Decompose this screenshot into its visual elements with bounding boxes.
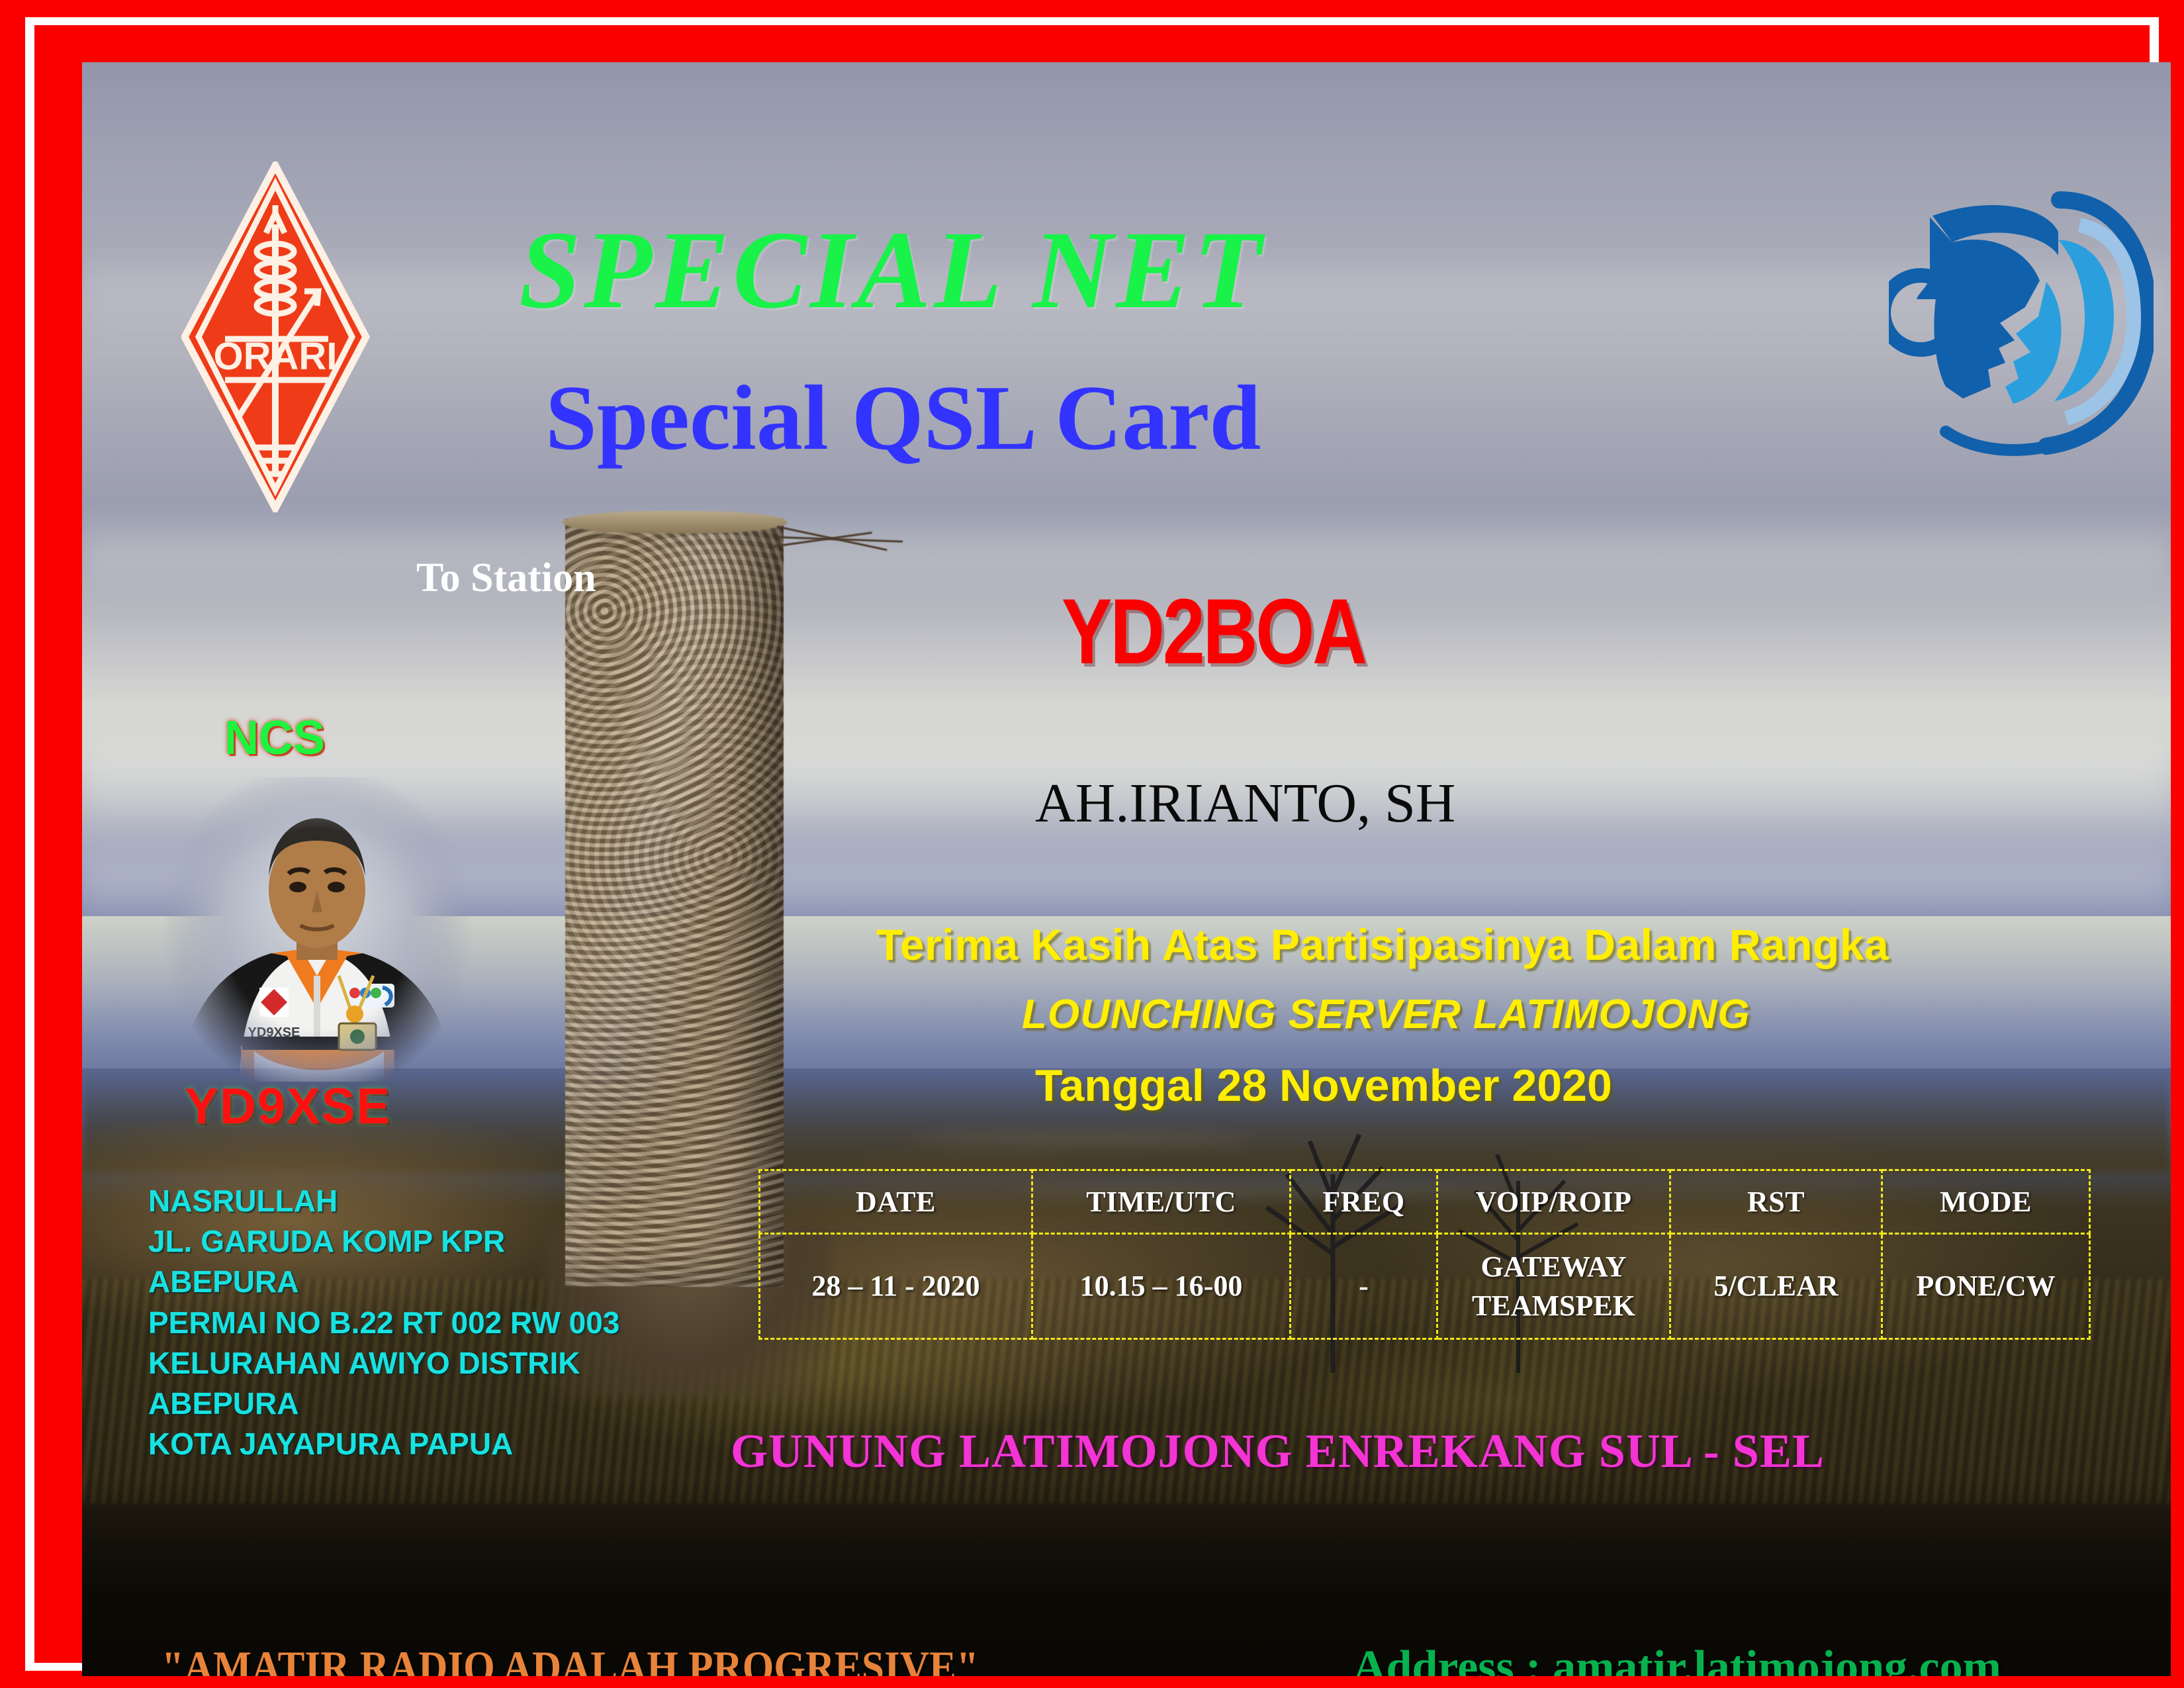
cell-mode: PONE/CW: [1882, 1234, 2090, 1339]
ncs-label: NCS: [224, 714, 325, 762]
qsl-card: ORARI SPECIAL NET Special QSL Card To St…: [0, 0, 2184, 1688]
table-header-row: DATE TIME/UTC FREQ VOIP/ROIP RST MODE: [760, 1170, 2090, 1234]
orari-logo-text: ORARI: [214, 335, 338, 378]
footer-motto: "AMATIR RADIO ADALAH PROGRESIVE": [161, 1644, 979, 1676]
operator-name: AH.IRIANTO, SH: [1035, 776, 1455, 831]
page-subtitle-qsl-card: Special QSL Card: [545, 372, 1261, 465]
cell-date: 28 – 11 - 2020: [760, 1234, 1032, 1339]
message-line-3: Tanggal 28 November 2020: [1035, 1063, 1612, 1108]
card-inner-red-frame: ORARI SPECIAL NET Special QSL Card To St…: [34, 25, 2150, 1663]
cell-time-utc: 10.15 – 16-00: [1032, 1234, 1291, 1339]
message-line-2: LOUNCHING SERVER LATIMOJONG: [1022, 994, 1751, 1035]
background-photo: ORARI SPECIAL NET Special QSL Card To St…: [82, 62, 2171, 1676]
column-header-date: DATE: [760, 1170, 1032, 1234]
page-title-special-net: SPECIAL NET: [519, 214, 1265, 326]
table-row: 28 – 11 - 2020 10.15 – 16-00 - GATEWAY T…: [760, 1234, 2090, 1339]
address-line: JL. GARUDA KOMP KPR: [148, 1221, 619, 1262]
address-line: PERMAI NO B.22 RT 002 RW 003: [148, 1303, 619, 1343]
qso-details-table: DATE TIME/UTC FREQ VOIP/ROIP RST MODE 28…: [758, 1169, 2091, 1340]
message-line-1: Terima Kasih Atas Partisipasinya Dalam R…: [876, 923, 1889, 966]
location-text: GUNUNG LATIMOJONG ENREKANG SUL - SEL: [731, 1427, 1825, 1475]
ncs-callsign: YD9XSE: [185, 1082, 391, 1132]
cell-voip-roip: GATEWAY TEAMSPEK: [1437, 1234, 1670, 1339]
address-line: NASRULLAH: [148, 1181, 619, 1221]
address-line: ABEPURA: [148, 1383, 619, 1424]
svg-text:YD9XSE: YD9XSE: [248, 1025, 300, 1040]
orari-logo: ORARI: [181, 162, 370, 512]
cell-rst: 5/CLEAR: [1670, 1234, 1882, 1339]
column-header-rst: RST: [1670, 1170, 1882, 1234]
station-callsign: YD2BOA: [1062, 585, 1365, 678]
headphone-face-logo: [1889, 168, 2154, 466]
column-header-freq: FREQ: [1291, 1170, 1437, 1234]
column-header-mode: MODE: [1882, 1170, 2090, 1234]
to-station-label: To Station: [416, 557, 596, 598]
address-line: KOTA JAYAPURA PAPUA: [148, 1424, 619, 1464]
column-header-voip-roip: VOIP/ROIP: [1437, 1170, 1670, 1234]
ncs-operator-photo: YD9XSE: [155, 777, 479, 1082]
monument-cap: [563, 511, 788, 534]
column-header-time-utc: TIME/UTC: [1032, 1170, 1291, 1234]
address-line: KELURAHAN AWIYO DISTRIK: [148, 1343, 619, 1383]
return-address-block: NASRULLAH JL. GARUDA KOMP KPR ABEPURA PE…: [148, 1181, 619, 1464]
cell-freq: -: [1291, 1234, 1437, 1339]
footer-web-address: Address : amatir.latimojong.com: [1353, 1644, 2001, 1676]
address-line: ABEPURA: [148, 1262, 619, 1302]
stone-monument: [565, 519, 784, 1287]
